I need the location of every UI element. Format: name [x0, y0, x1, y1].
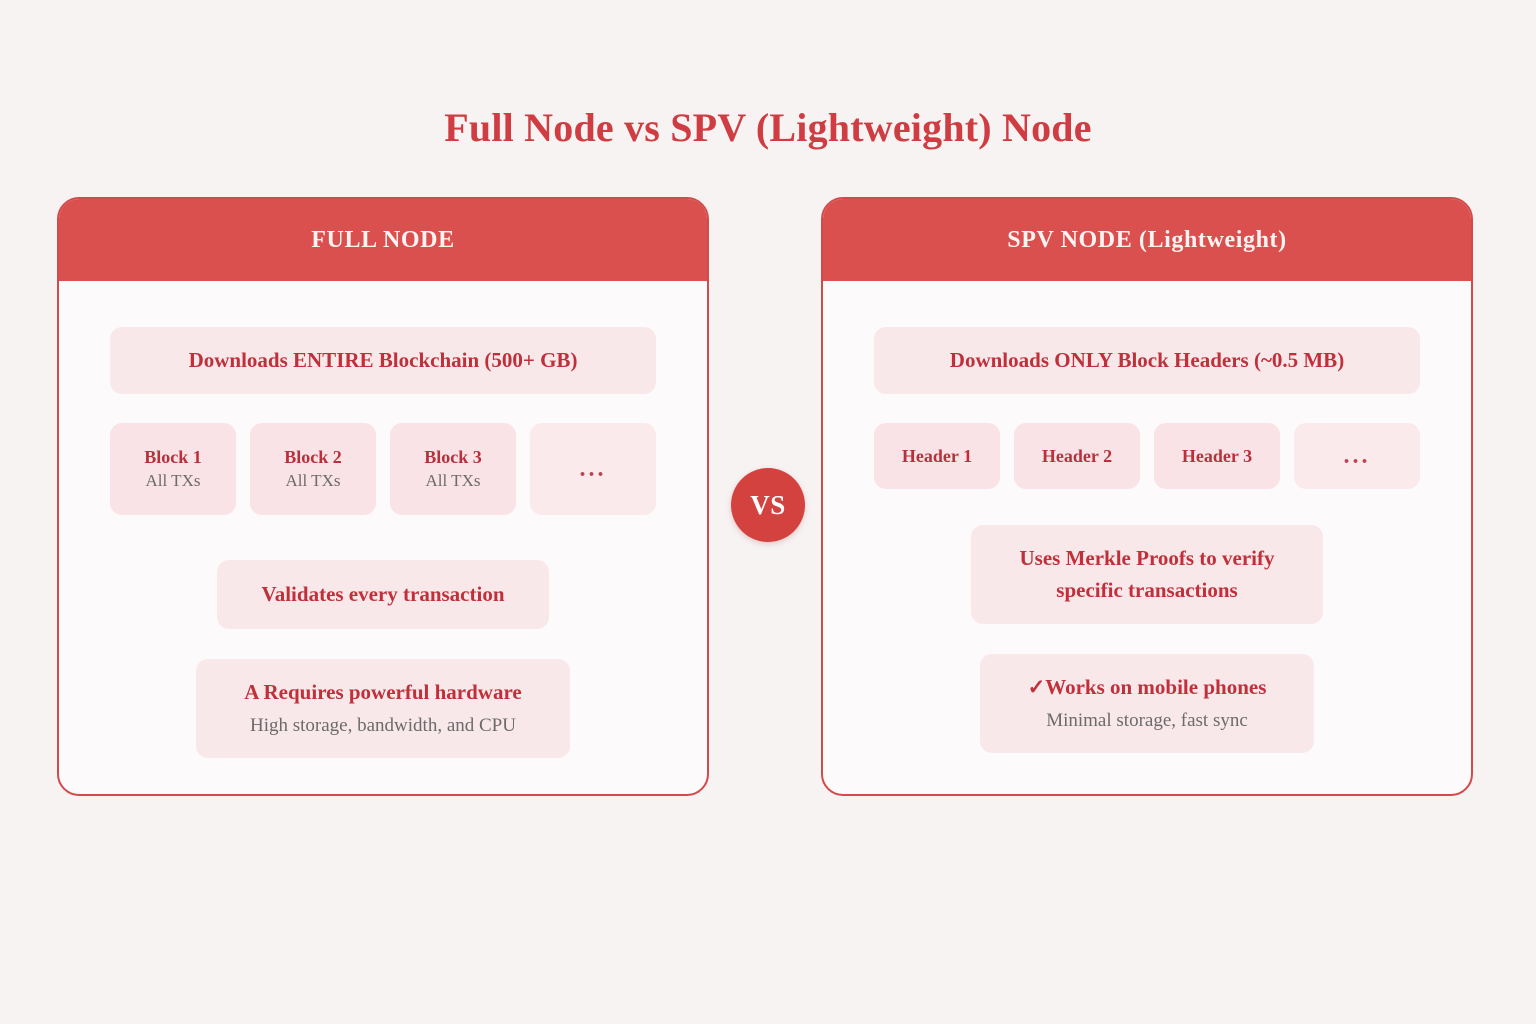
mobile-support-main: ✓Works on mobile phones — [1028, 672, 1267, 704]
header-chip: Header 3 — [1154, 423, 1280, 489]
warning-glyph-icon: A — [244, 680, 258, 704]
header-chip-row: Header 1 Header 2 Header 3 ... — [874, 423, 1420, 489]
validates-pill: Validates every transaction — [217, 560, 548, 629]
hardware-pill-sub: High storage, bandwidth, and CPU — [244, 712, 521, 741]
block-chip-title: Block 3 — [424, 446, 482, 469]
block-chip-ellipsis: ... — [530, 423, 656, 515]
full-node-card-header: FULL NODE — [59, 199, 707, 281]
full-node-card: FULL NODE Downloads ENTIRE Blockchain (5… — [57, 197, 709, 796]
vs-badge: VS — [731, 468, 805, 542]
block-chip-subtitle: All TXs — [146, 470, 201, 492]
merkle-proof-line-2: specific transactions — [1019, 575, 1274, 607]
block-chip-title: Block 2 — [284, 446, 342, 469]
ellipsis-icon: ... — [580, 457, 607, 481]
block-chip-subtitle: All TXs — [426, 470, 481, 492]
spv-node-card-body: Downloads ONLY Block Headers (~0.5 MB) H… — [823, 281, 1471, 794]
block-chip-row: Block 1 All TXs Block 2 All TXs Block 3 … — [110, 423, 656, 515]
checkmark-icon: ✓ — [1028, 675, 1046, 699]
block-chip: Block 2 All TXs — [250, 423, 376, 515]
block-chip: Block 3 All TXs — [390, 423, 516, 515]
header-chip: Header 2 — [1014, 423, 1140, 489]
full-node-summary-pill: Downloads ENTIRE Blockchain (500+ GB) — [110, 327, 656, 394]
hardware-pill-main: A Requires powerful hardware — [244, 677, 521, 709]
diagram-canvas: Full Node vs SPV (Lightweight) Node FULL… — [0, 0, 1536, 1024]
mobile-support-text: Works on mobile phones — [1045, 675, 1266, 699]
block-chip-subtitle: All TXs — [286, 470, 341, 492]
header-chip-title: Header 3 — [1182, 445, 1252, 468]
header-chip: Header 1 — [874, 423, 1000, 489]
mobile-support-sub: Minimal storage, fast sync — [1028, 707, 1267, 736]
merkle-proof-pill: Uses Merkle Proofs to verify specific tr… — [971, 525, 1322, 624]
merkle-proof-line-1: Uses Merkle Proofs to verify — [1019, 543, 1274, 575]
mobile-support-pill: ✓Works on mobile phones Minimal storage,… — [980, 654, 1315, 753]
full-node-card-body: Downloads ENTIRE Blockchain (500+ GB) Bl… — [59, 281, 707, 794]
ellipsis-icon: ... — [1344, 444, 1371, 468]
hardware-pill-text: Requires powerful hardware — [264, 680, 522, 704]
spv-node-summary-pill: Downloads ONLY Block Headers (~0.5 MB) — [874, 327, 1420, 394]
block-chip-title: Block 1 — [144, 446, 202, 469]
spv-node-card: SPV NODE (Lightweight) Downloads ONLY Bl… — [821, 197, 1473, 796]
hardware-pill: A Requires powerful hardware High storag… — [196, 659, 569, 758]
page-title: Full Node vs SPV (Lightweight) Node — [0, 104, 1536, 151]
header-chip-ellipsis: ... — [1294, 423, 1420, 489]
header-chip-title: Header 2 — [1042, 445, 1112, 468]
block-chip: Block 1 All TXs — [110, 423, 236, 515]
header-chip-title: Header 1 — [902, 445, 972, 468]
spv-node-card-header: SPV NODE (Lightweight) — [823, 199, 1471, 281]
